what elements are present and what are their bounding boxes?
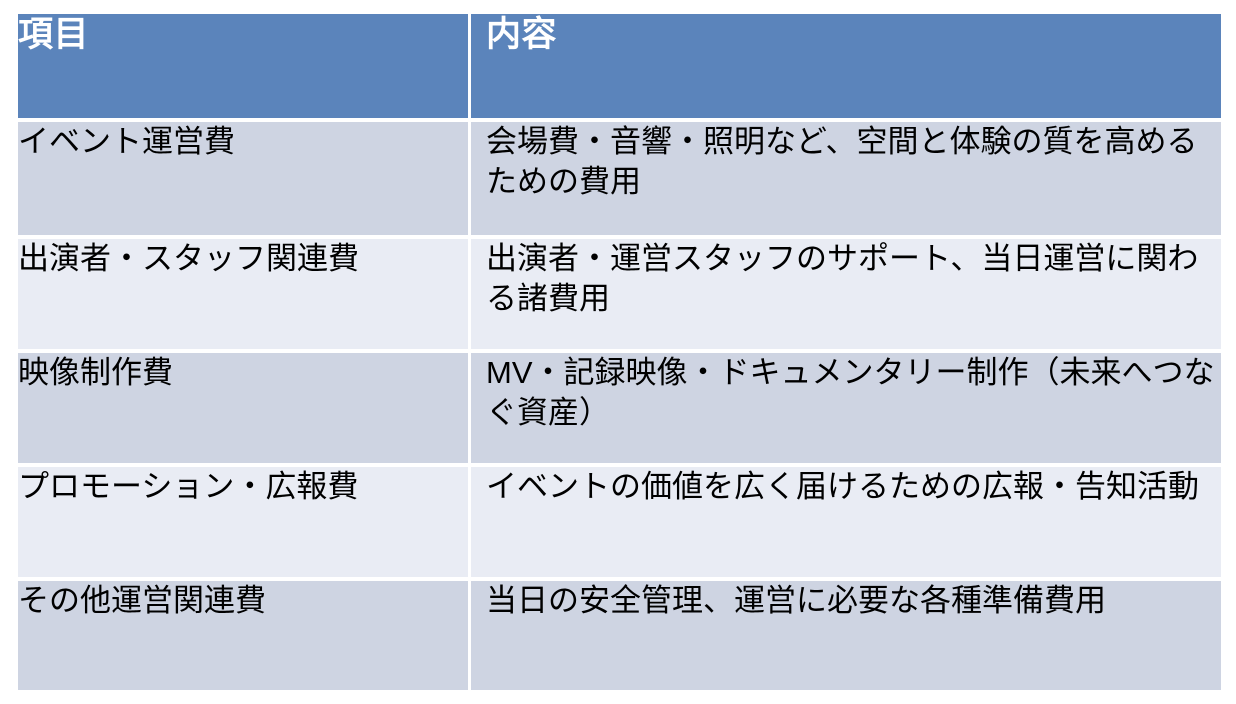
slide-canvas: 項目 内容 イベント運営費 会場費・音響・照明など、空間と体験の質を高めるための… (0, 0, 1236, 704)
cell-content: 出演者・運営スタッフのサポート、当日運営に関わる諸費用 (471, 239, 1221, 349)
cell-item: 映像制作費 (18, 353, 468, 463)
cell-content-text: イベントの価値を広く届けるための広報・告知活動 (486, 467, 1217, 507)
cost-breakdown-table: 項目 内容 イベント運営費 会場費・音響・照明など、空間と体験の質を高めるための… (18, 14, 1221, 690)
cell-item-text: その他運営関連費 (18, 581, 468, 621)
cell-item: イベント運営費 (18, 122, 468, 235)
table-row: 出演者・スタッフ関連費 出演者・運営スタッフのサポート、当日運営に関わる諸費用 (18, 239, 1221, 349)
table-row: イベント運営費 会場費・音響・照明など、空間と体験の質を高めるための費用 (18, 122, 1221, 235)
cell-item-text: 出演者・スタッフ関連費 (18, 239, 468, 279)
cell-content: 会場費・音響・照明など、空間と体験の質を高めるための費用 (471, 122, 1221, 235)
column-header-content-label: 内容 (486, 14, 1221, 55)
cell-item: プロモーション・広報費 (18, 467, 468, 577)
cell-item-text: 映像制作費 (18, 353, 468, 393)
cell-content-text: 当日の安全管理、運営に必要な各種準備費用 (486, 581, 1217, 621)
column-header-item: 項目 (18, 14, 468, 118)
cell-content-text: 出演者・運営スタッフのサポート、当日運営に関わる諸費用 (486, 239, 1217, 320)
table-header: 項目 内容 (18, 14, 1221, 118)
table-row: プロモーション・広報費 イベントの価値を広く届けるための広報・告知活動 (18, 467, 1221, 577)
table-header-row: 項目 内容 (18, 14, 1221, 118)
cell-item: その他運営関連費 (18, 581, 468, 690)
table-body: イベント運営費 会場費・音響・照明など、空間と体験の質を高めるための費用 出演者… (18, 118, 1221, 690)
table-row: その他運営関連費 当日の安全管理、運営に必要な各種準備費用 (18, 581, 1221, 690)
cell-content-text: 会場費・音響・照明など、空間と体験の質を高めるための費用 (486, 122, 1217, 203)
cell-content: MV・記録映像・ドキュメンタリー制作（未来へつなぐ資産） (471, 353, 1221, 463)
cell-item-text: プロモーション・広報費 (18, 467, 468, 507)
cell-content-text: MV・記録映像・ドキュメンタリー制作（未来へつなぐ資産） (486, 353, 1217, 434)
cell-content: イベントの価値を広く届けるための広報・告知活動 (471, 467, 1221, 577)
column-header-content: 内容 (471, 14, 1221, 118)
cell-content: 当日の安全管理、運営に必要な各種準備費用 (471, 581, 1221, 690)
cell-item: 出演者・スタッフ関連費 (18, 239, 468, 349)
column-header-item-label: 項目 (18, 14, 468, 55)
cell-item-text: イベント運営費 (18, 122, 468, 162)
table-row: 映像制作費 MV・記録映像・ドキュメンタリー制作（未来へつなぐ資産） (18, 353, 1221, 463)
